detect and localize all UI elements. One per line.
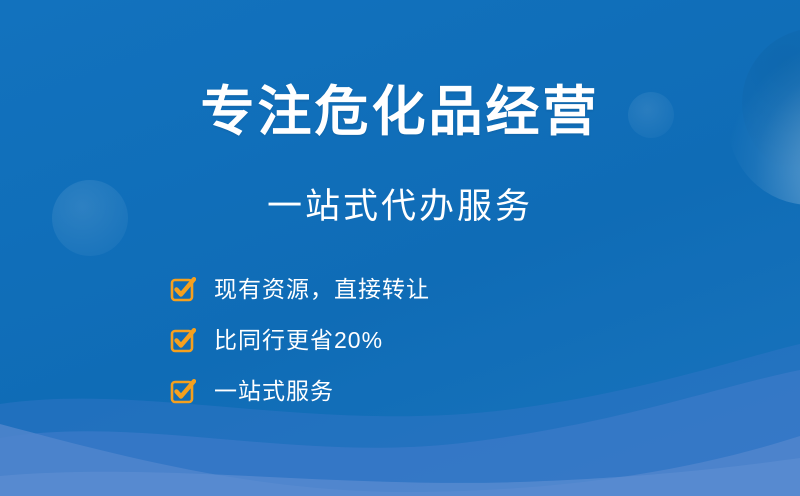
banner-content: 专注危化品经营 一站式代办服务 现有资源，直接转让 比同行更省20%	[0, 0, 800, 496]
checkbox-checked-icon	[170, 276, 196, 302]
page-subtitle: 一站式代办服务	[0, 189, 800, 224]
page-title: 专注危化品经营	[0, 84, 800, 138]
checkbox-checked-icon	[170, 378, 196, 404]
list-item-label: 现有资源，直接转让	[214, 278, 430, 301]
promo-banner: 专注危化品经营 一站式代办服务 现有资源，直接转让 比同行更省20%	[0, 0, 800, 496]
feature-list: 现有资源，直接转让 比同行更省20% 一站式服务	[170, 274, 430, 406]
list-item-label: 比同行更省20%	[214, 329, 383, 352]
checkbox-checked-icon	[170, 327, 196, 353]
list-item-label: 一站式服务	[214, 380, 334, 403]
list-item: 比同行更省20%	[170, 325, 430, 355]
list-item: 一站式服务	[170, 376, 430, 406]
list-item: 现有资源，直接转让	[170, 274, 430, 304]
